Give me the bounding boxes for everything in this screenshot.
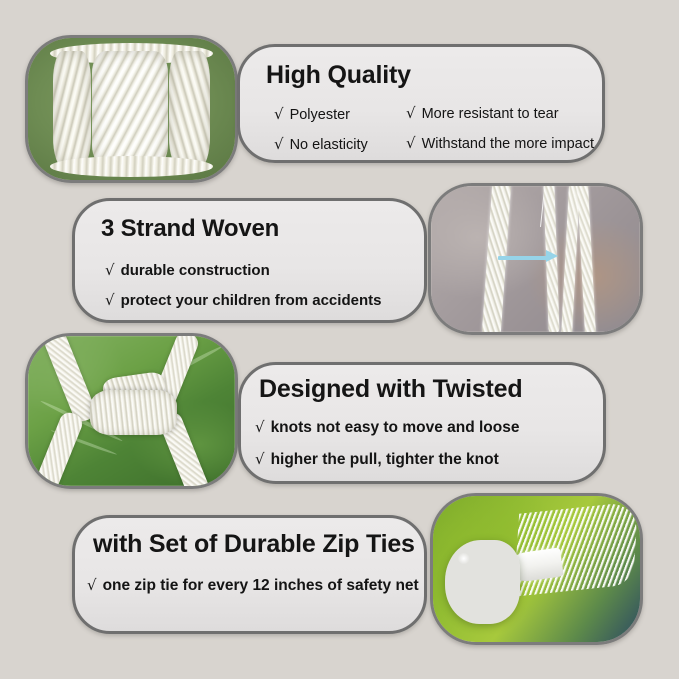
feature-image-knot-leaves [25,333,238,489]
bullet-label: higher the pull, tighter the knot [271,451,499,469]
bullet-label: More resistant to tear [422,106,559,122]
bullet-label: durable construction [121,262,270,279]
check-icon: √ [87,576,97,594]
coil-segment-right [169,51,210,167]
zip-tie-heads [445,540,520,625]
rope-coil-illustration [53,51,210,167]
feature-image-rope-coil [25,35,238,183]
coil-bottom-wrap [50,156,214,177]
feature-panel-durable-zip-ties: with Set of Durable Zip Ties √ one zip t… [72,515,427,634]
feature-bullet: √ protect your children from accidents [105,291,381,309]
check-icon: √ [406,104,416,122]
check-icon: √ [255,418,265,436]
feature-bullet: √ knots not easy to move and loose [255,418,519,437]
feature-bullet: √ Withstand the more impact [406,134,594,152]
feature-image-zip-ties [430,493,643,645]
knot-core [90,390,177,435]
feature-bullet: √ durable construction [105,261,270,279]
feature-title: Designed with Twisted [259,375,522,404]
coil-segment-center [92,51,168,167]
feature-panel-high-quality: High Quality √ Polyester √ More resistan… [237,44,605,163]
coil-segment-left [53,51,91,167]
feature-title: with Set of Durable Zip Ties [93,530,415,559]
zip-tie-tails [513,501,638,596]
arrow-head-icon [546,250,558,262]
check-icon: √ [255,450,265,468]
feature-title: High Quality [266,61,411,90]
bullet-label: protect your children from accidents [121,292,382,309]
feature-image-strand-detail [428,183,643,335]
check-icon: √ [105,261,115,279]
check-icon: √ [406,134,416,152]
feature-bullet: √ higher the pull, tighter the knot [255,450,499,469]
bullet-label: Polyester [290,107,350,123]
arrow-icon [498,256,548,260]
bullet-label: Withstand the more impact [422,136,594,152]
infographic-canvas: High Quality √ Polyester √ More resistan… [0,0,679,679]
bullet-label: knots not easy to move and loose [271,419,520,437]
bullet-label: No elasticity [290,137,368,153]
feature-bullet: √ one zip tie for every 12 inches of saf… [87,576,419,595]
feature-bullet: √ Polyester [274,105,350,123]
feature-bullet: √ More resistant to tear [406,104,559,122]
bullet-label: one zip tie for every 12 inches of safet… [103,577,419,595]
check-icon: √ [274,105,284,123]
check-icon: √ [105,291,115,309]
feature-title: 3 Strand Woven [101,215,279,243]
feature-panel-designed-with-twisted: Designed with Twisted √ knots not easy t… [238,362,606,484]
check-icon: √ [274,135,284,153]
feature-bullet: √ No elasticity [274,135,368,153]
feature-panel-three-strand-woven: 3 Strand Woven √ durable construction √ … [72,198,427,323]
